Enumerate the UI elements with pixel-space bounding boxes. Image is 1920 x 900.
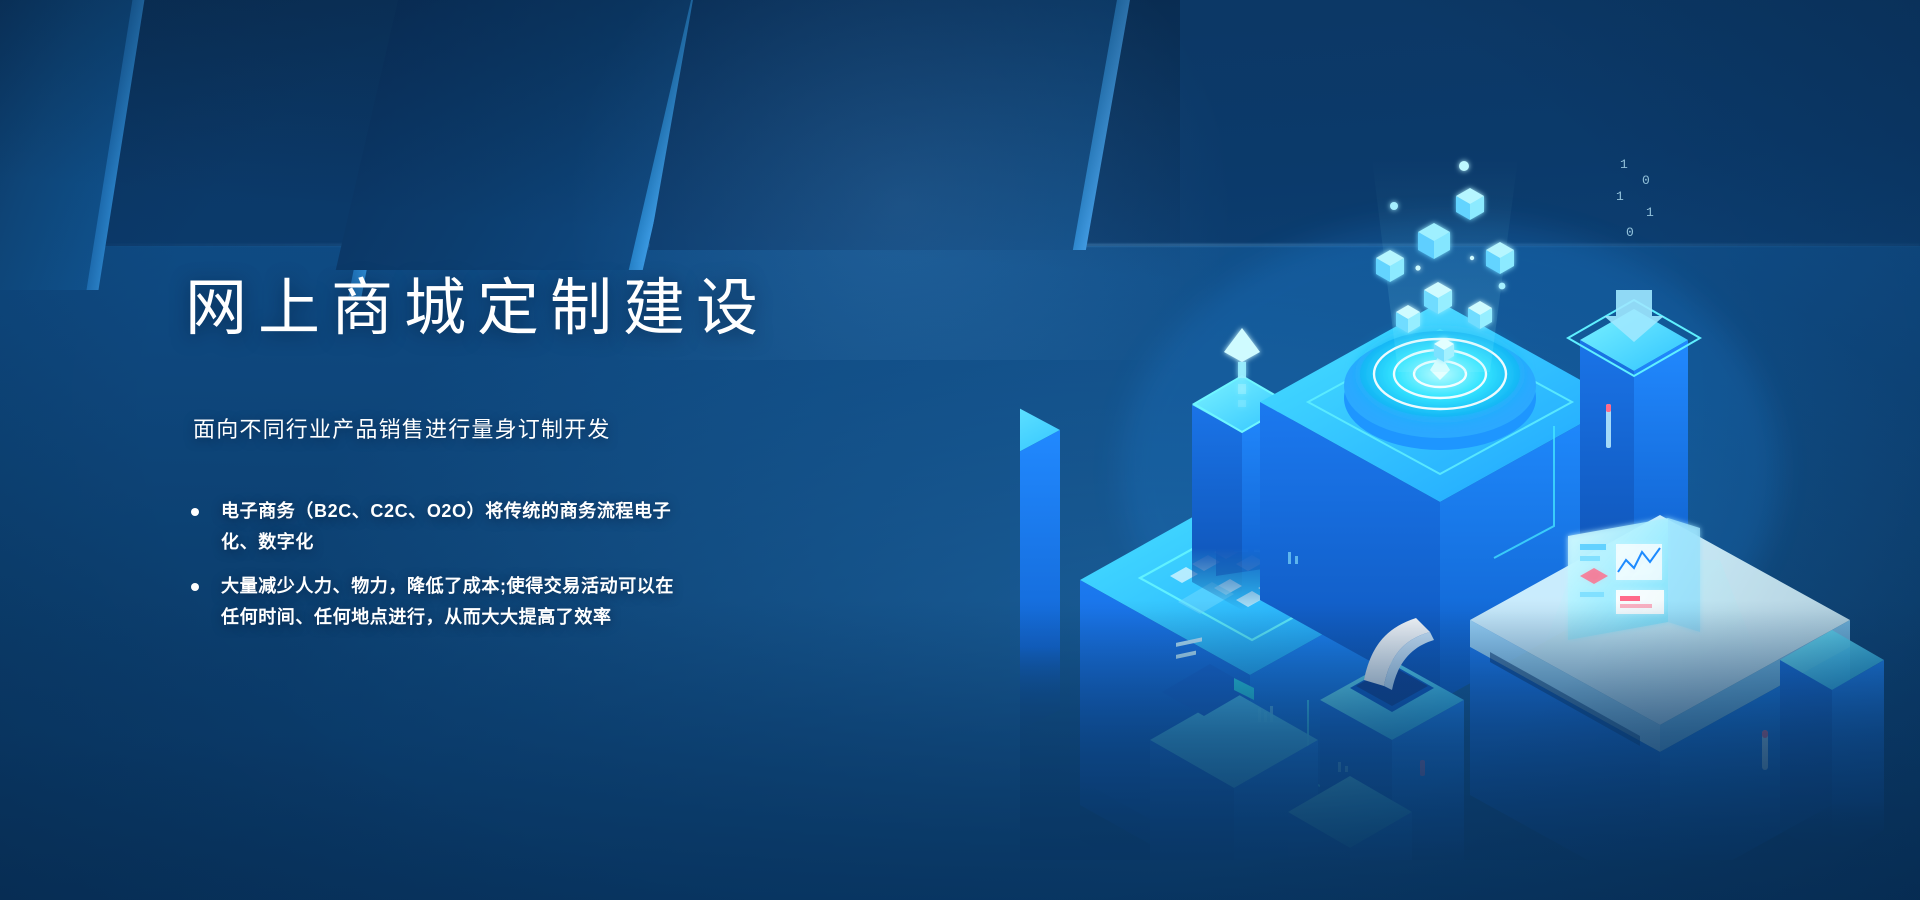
list-item-text: 大量减少人力、物力，降低了成本;使得交易活动可以在任何时间、任何地点进行，从而大… (221, 576, 674, 627)
line-chart (1616, 544, 1662, 580)
svg-text:0: 0 (1642, 173, 1650, 188)
svg-text:1: 1 (1620, 157, 1628, 172)
list-item: 大量减少人力、物力，降低了成本;使得交易活动可以在任何时间、任何地点进行，从而大… (187, 571, 691, 633)
bullet-dot-icon (191, 583, 199, 591)
svg-text:1: 1 (1646, 205, 1654, 220)
list-item-text: 电子商务（B2C、C2C、O2O）将传统的商务流程电子化、数字化 (221, 501, 671, 552)
svg-text:1: 1 (1616, 189, 1624, 204)
hero-banner: 10 11 0 (0, 0, 1920, 900)
hero-copy: 网上商城定制建设 面向不同行业产品销售进行量身订制开发 电子商务（B2C、C2C… (185, 278, 825, 649)
binary-stream: 10 11 0 (1616, 157, 1654, 240)
list-item: 电子商务（B2C、C2C、O2O）将传统的商务流程电子化、数字化 (187, 496, 691, 558)
svg-text:0: 0 (1626, 225, 1634, 240)
page-subtitle: 面向不同行业产品销售进行量身订制开发 (193, 412, 825, 444)
background-slab-3 (336, 0, 705, 270)
bullet-dot-icon (191, 508, 199, 516)
isometric-illustration: 10 11 0 (1020, 140, 1920, 860)
feature-list: 电子商务（B2C、C2C、O2O）将传统的商务流程电子化、数字化 大量减少人力、… (187, 496, 825, 633)
page-title: 网上商城定制建设 (185, 278, 825, 340)
bottom-fade (1020, 610, 1920, 860)
